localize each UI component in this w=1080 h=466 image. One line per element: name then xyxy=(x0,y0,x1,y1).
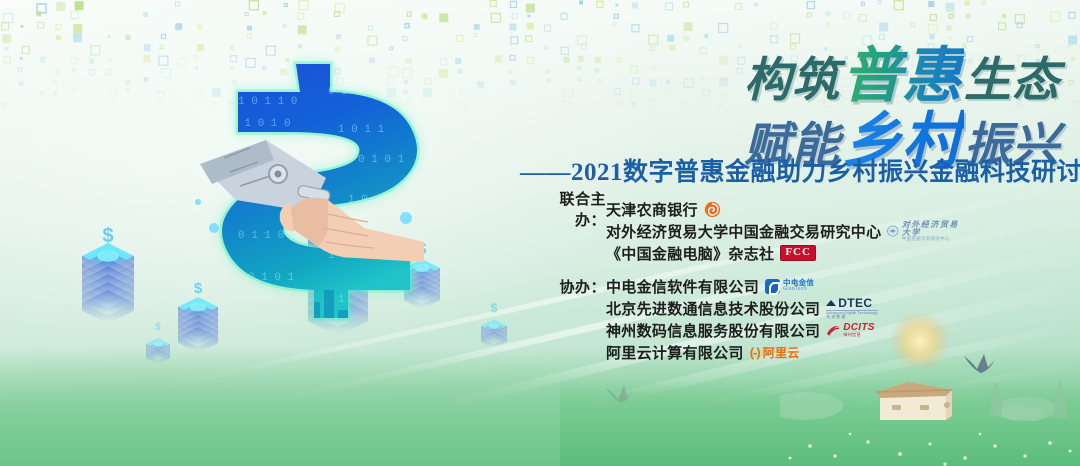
svg-text:1 0 1 1: 1 0 1 1 xyxy=(338,124,385,136)
credit-group-coorganizer: 协办： 中电金信软件有限公司 中电金信 GienTech 协办： 北京先进数通信… xyxy=(534,275,964,363)
credit-row: 协办： 中电金信软件有限公司 中电金信 GienTech xyxy=(534,275,964,297)
gientech-mark-icon xyxy=(765,279,780,294)
credit-row: 联合主办： 《中国金融电脑》杂志社 FCC xyxy=(534,242,964,264)
credit-org-name: 北京先进数通信息技术股份公司 xyxy=(606,298,820,319)
svg-text:1 0 1 1 0: 1 0 1 1 0 xyxy=(238,96,297,108)
credit-org-name: 《中国金融电脑》杂志社 xyxy=(606,243,774,264)
credit-row: 协办： 神州数码信息服务股份有限公司 DCITS 神州信息 xyxy=(534,319,964,341)
coin-tower-dollar-glyph: $ xyxy=(491,301,498,315)
credit-org-name: 神州数码信息服务股份有限公司 xyxy=(606,320,820,341)
field-flowers xyxy=(789,433,1072,466)
credit-label-spacer: 联合主办： xyxy=(534,232,606,274)
dollar-handshake-graphic: 1 0 1 1 0 0 1 0 0 1 1 0 1 0 1 0 1 1 1 0 … xyxy=(178,52,446,370)
dcits-logo: DCITS 神州信息 xyxy=(826,323,875,338)
credit-org-name: 天津农商银行 xyxy=(606,199,698,220)
swallow-icon-center xyxy=(604,384,634,406)
credit-row: 协办： 北京先进数通信息技术股份公司 DTEC Advanced Digital… xyxy=(534,297,964,319)
title-line-1: 构筑普惠生态 xyxy=(520,46,1060,106)
banner-subtitle: ——2021数字普惠金融助力乡村振兴金融科技研讨会 xyxy=(520,152,1060,188)
credit-org-name: 中电金信软件有限公司 xyxy=(606,276,759,297)
svg-text:0 1 1 0 1 0: 0 1 1 0 1 0 xyxy=(218,118,291,130)
fcc-badge-logo: FCC xyxy=(780,245,816,261)
dtec-logo-sub-cn: 先进数通 xyxy=(826,315,877,319)
coin-tower-dollar-glyph: $ xyxy=(102,225,113,247)
coin-tower: $ xyxy=(146,322,170,364)
dcits-swoosh-icon xyxy=(826,324,840,337)
coin-tower-dollar-glyph: $ xyxy=(155,322,161,333)
aliyun-mark-icon: (-) xyxy=(750,345,760,360)
event-banner: $$$$$$$ 1 0 1 1 xyxy=(0,0,1080,466)
title-seg-1: 构筑 xyxy=(744,53,840,106)
dtec-logo: DTEC Advanced Digital Technology 先进数通 xyxy=(826,297,877,320)
credit-row: 协办： 阿里云计算有限公司 (-) 阿里云 xyxy=(534,341,964,363)
title-seg-2: 普惠 xyxy=(840,42,964,109)
fcc-logo-text: FCC xyxy=(780,245,816,261)
credit-org-name: 对外经济贸易大学中国金融交易研究中心 xyxy=(606,221,881,242)
swallow-icon-right xyxy=(962,352,996,378)
coin-tower: $ xyxy=(481,301,507,348)
gientech-logo-en: GienTech xyxy=(783,287,814,292)
credit-group-host: 联合主办： 天津农商银行 联合主办： 对外经济贸易大学中国金融交易研究中心 xyxy=(534,198,964,264)
dtec-chevron-icon xyxy=(826,300,836,306)
aliyun-logo: (-) 阿里云 xyxy=(750,344,800,361)
tjrcb-swirl-logo xyxy=(704,201,721,218)
credits-block: 联合主办： 天津农商银行 联合主办： 对外经济贸易大学中国金融交易研究中心 xyxy=(534,198,964,374)
dcits-logo-cn: 神州信息 xyxy=(843,333,875,337)
svg-text:0 1 0 1: 0 1 0 1 xyxy=(358,154,405,166)
farmhouse-icon xyxy=(876,382,952,420)
credit-org-name: 阿里云计算有限公司 xyxy=(606,342,744,363)
svg-text:0 0 1 1: 0 0 1 1 xyxy=(236,312,283,324)
svg-text:1 0 1 0: 1 0 1 0 xyxy=(318,330,364,342)
uibe-logo-cn: 对外经济贸易大学 xyxy=(902,221,964,237)
uibe-seal-logo: 对外经济贸易大学 中国金融交易研究中心 xyxy=(887,221,964,241)
credit-label-spacer: 协办： xyxy=(534,298,606,319)
uibe-logo-sub: 中国金融交易研究中心 xyxy=(902,237,964,241)
gientech-logo: 中电金信 GienTech xyxy=(765,279,814,294)
credit-label-spacer: 协办： xyxy=(534,342,606,363)
svg-text:0 1 1 0: 0 1 1 0 xyxy=(238,230,284,242)
aliyun-logo-cn: 阿里云 xyxy=(763,344,800,361)
credit-label-spacer: 协办： xyxy=(534,320,606,341)
credit-label-coorganizer: 协办： xyxy=(534,276,606,297)
coin-tower: $ xyxy=(82,225,134,324)
dtec-logo-en: DTEC xyxy=(838,297,872,309)
title-seg-3: 生态 xyxy=(964,53,1060,106)
svg-text:1 1 0 1 0: 1 1 0 1 0 xyxy=(338,294,397,306)
